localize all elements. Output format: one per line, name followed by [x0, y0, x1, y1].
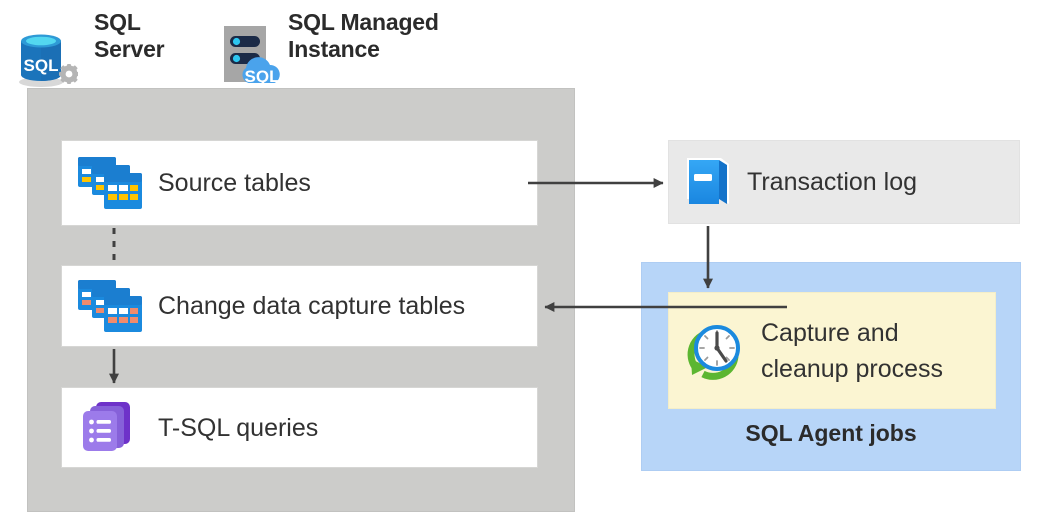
tsql-queries-icon: [62, 400, 158, 456]
sql-managed-instance-title: SQL Managed Instance: [288, 9, 508, 63]
sql-server-title: SQL Server: [94, 9, 204, 63]
sql-server-database-icon: SQL: [16, 24, 78, 90]
sql-managed-instance-icon: SQL: [219, 22, 289, 90]
capture-cleanup-process-box[interactable]: Capture and cleanup process: [668, 292, 996, 409]
capture-cleanup-process-label: Capture and cleanup process: [761, 315, 943, 387]
svg-text:SQL: SQL: [245, 67, 280, 86]
source-tables-box[interactable]: Source tables: [61, 140, 538, 226]
tsql-queries-label: T-SQL queries: [158, 413, 318, 443]
cdc-tables-box[interactable]: Change data capture tables: [61, 265, 538, 347]
tables-icon-yellow: [62, 155, 158, 211]
book-icon: [669, 154, 747, 210]
diagram-canvas: SQL SQL Server: [0, 0, 1044, 527]
source-tables-label: Source tables: [158, 168, 311, 198]
tables-icon-salmon: [62, 278, 158, 334]
capture-label-line1: Capture and: [761, 319, 899, 347]
sql-agent-jobs-caption: SQL Agent jobs: [641, 420, 1021, 447]
transaction-log-box[interactable]: Transaction log: [668, 140, 1020, 224]
transaction-log-label: Transaction log: [747, 167, 917, 197]
cdc-tables-label: Change data capture tables: [158, 291, 465, 321]
capture-label-line2: cleanup process: [761, 355, 943, 383]
tsql-queries-box[interactable]: T-SQL queries: [61, 387, 538, 468]
svg-text:SQL: SQL: [24, 56, 59, 75]
clock-refresh-icon: [669, 321, 761, 381]
